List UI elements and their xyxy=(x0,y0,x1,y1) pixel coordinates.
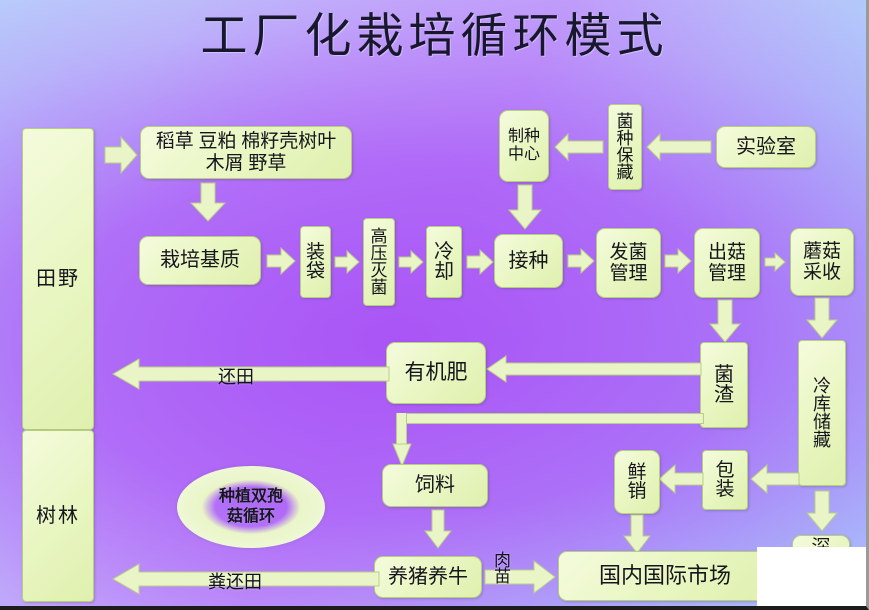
node-packaging-label-2: 装 xyxy=(715,480,734,499)
node-market: 国内国际市场 xyxy=(558,551,772,601)
node-market-label: 国内国际市场 xyxy=(599,564,731,589)
arrow-spawn-run-to-fruiting xyxy=(664,248,692,274)
node-sterilize-label-4: 菌 xyxy=(371,279,388,296)
node-bagging: 装 袋 xyxy=(300,226,331,298)
cycle-label-line2: 菇循环 xyxy=(227,507,275,527)
node-fruiting-label-1: 出菇 xyxy=(708,242,746,263)
node-cooling-label-1: 冷 xyxy=(434,242,454,262)
edge-label-meat-seedling-2: 苗 xyxy=(494,569,511,585)
node-raw-materials-line2: 木屑 野草 xyxy=(206,153,287,174)
node-harvest: 蘑菇 采收 xyxy=(790,228,854,296)
node-cooling-label-2: 却 xyxy=(434,262,454,282)
node-livestock-label: 养猪养牛 xyxy=(388,566,468,588)
node-strain-storage-label-3: 保 xyxy=(617,147,634,164)
node-inoculation: 接种 xyxy=(494,234,563,288)
page-title: 工厂化栽培循环模式 xyxy=(0,6,869,68)
node-cold-storage-label-3: 储 xyxy=(813,413,831,431)
node-cold-storage-label-2: 库 xyxy=(813,395,831,413)
node-sterilize-label-2: 压 xyxy=(371,245,388,262)
arrow-packaging-to-fresh-sales xyxy=(658,464,704,494)
arrow-cooling-to-inoculation xyxy=(466,249,494,275)
node-strain-storage: 菌 种 保 藏 xyxy=(608,104,642,190)
node-organic-fertilizer: 有机肥 xyxy=(386,342,486,404)
node-fresh-sales-label-1: 鲜 xyxy=(627,463,646,482)
edge-label-manure-return: 粪还田 xyxy=(208,568,262,594)
node-cooling: 冷 却 xyxy=(426,226,462,298)
arrow-harvest-to-cold-storage xyxy=(806,297,838,339)
node-sterilize: 高 压 灭 菌 xyxy=(363,218,395,306)
node-raw-materials: 稻草 豆粕 棉籽壳树叶 木屑 野草 xyxy=(140,126,352,179)
arrow-field-to-raw-materials xyxy=(104,136,138,174)
node-strain-storage-label-4: 藏 xyxy=(617,164,634,181)
node-strain-storage-label-2: 种 xyxy=(617,130,634,147)
node-substrate-label: 栽培基质 xyxy=(160,249,240,271)
node-sterilize-label-3: 灭 xyxy=(371,262,388,279)
arrow-seed-center-to-inoculation xyxy=(508,184,542,230)
node-feed: 饲料 xyxy=(382,464,488,507)
node-livestock: 养猪养牛 xyxy=(374,556,482,598)
arrow-fresh-sales-to-market xyxy=(623,514,651,554)
arrow-fruiting-to-spent-substrate xyxy=(709,299,741,343)
node-seed-center-label-2: 中心 xyxy=(508,146,540,164)
edge-label-meat-seedling: 肉 苗 xyxy=(494,553,511,585)
arrow-fruiting-to-harvest xyxy=(764,252,786,272)
node-feed-label: 饲料 xyxy=(415,474,455,496)
arrow-spent-substrate-to-organic-fertilizer xyxy=(486,355,702,383)
node-sterilize-label-1: 高 xyxy=(371,228,388,245)
node-harvest-label-1: 蘑菇 xyxy=(803,241,841,262)
node-seed-center-label-1: 制种 xyxy=(508,128,540,146)
node-spent-substrate-label-2: 渣 xyxy=(714,385,734,405)
node-strain-storage-label-1: 菌 xyxy=(617,113,634,130)
node-spawn-run: 发菌 管理 xyxy=(596,228,661,298)
arrow-raw-materials-to-substrate xyxy=(190,182,226,222)
node-fruiting: 出菇 管理 xyxy=(694,228,760,298)
edge-label-return-to-field: 还田 xyxy=(218,363,254,389)
arrow-strain-storage-to-seed-center xyxy=(554,133,604,161)
arrow-bagging-to-sterilize xyxy=(334,250,360,274)
node-spent-substrate: 菌 渣 xyxy=(700,342,748,428)
node-fruiting-label-2: 管理 xyxy=(708,263,746,284)
node-cold-storage-label-1: 冷 xyxy=(813,377,831,395)
node-packaging: 包 装 xyxy=(702,450,748,510)
node-substrate: 栽培基质 xyxy=(139,236,261,285)
node-field: 田野 xyxy=(22,128,94,430)
arrow-cold-storage-to-packaging xyxy=(750,464,800,494)
node-laboratory-label: 实验室 xyxy=(736,136,796,158)
node-cold-storage-label-4: 藏 xyxy=(813,431,831,449)
node-laboratory: 实验室 xyxy=(716,126,816,168)
connector-spent-substrate-to-feed-horizontal xyxy=(396,413,704,424)
arrow-laboratory-to-strain-storage xyxy=(646,133,712,161)
white-overlay-region xyxy=(757,547,866,606)
node-harvest-label-2: 采收 xyxy=(803,262,841,283)
node-fresh-sales-label-2: 销 xyxy=(627,482,646,501)
node-field-label: 田野 xyxy=(36,268,80,290)
arrow-substrate-to-bagging xyxy=(266,247,296,275)
node-forest-label: 树林 xyxy=(36,505,80,527)
node-fresh-sales: 鲜 销 xyxy=(614,450,660,514)
node-spawn-run-label-1: 发菌 xyxy=(609,242,647,263)
node-spent-substrate-label-1: 菌 xyxy=(714,365,734,385)
node-spawn-run-label-2: 管理 xyxy=(609,263,647,284)
node-organic-fertilizer-label: 有机肥 xyxy=(405,361,468,385)
cycle-ellipse-label: 种植双孢 菇循环 xyxy=(177,466,325,548)
node-forest: 树林 xyxy=(22,430,94,602)
node-packaging-label-1: 包 xyxy=(715,461,734,480)
node-bagging-label-1: 装 xyxy=(306,243,325,262)
arrow-sterilize-to-cooling xyxy=(398,250,424,274)
arrow-inoculation-to-spawn-run xyxy=(567,248,595,274)
node-inoculation-label: 接种 xyxy=(509,250,549,272)
arrow-feed-to-livestock xyxy=(424,509,452,549)
node-seed-center: 制种 中心 xyxy=(499,110,549,182)
cycle-label-line1: 种植双孢 xyxy=(219,487,283,507)
node-cold-storage: 冷 库 储 藏 xyxy=(798,340,846,486)
diagram-canvas: 工厂化栽培循环模式 田野 树林 稻草 豆粕 棉籽壳树叶 木屑 野草 栽培基质 装… xyxy=(0,0,869,610)
node-raw-materials-line1: 稻草 豆粕 棉籽壳树叶 xyxy=(156,131,337,152)
node-bagging-label-2: 袋 xyxy=(306,262,325,281)
arrow-cold-storage-to-deep-processing xyxy=(806,490,838,532)
